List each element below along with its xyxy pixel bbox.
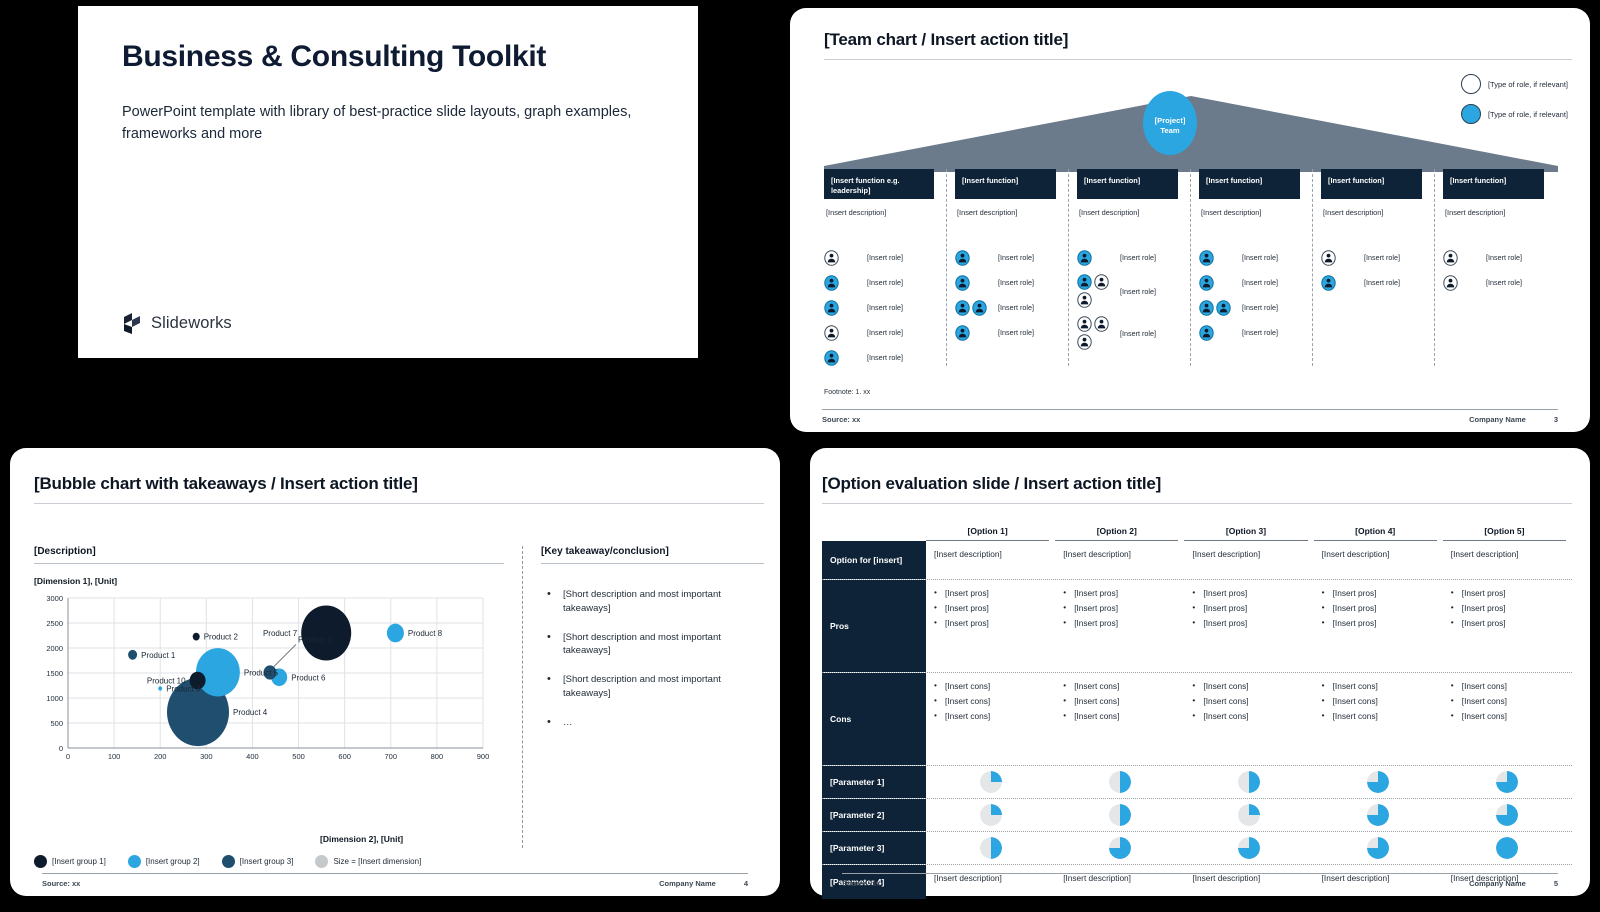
bullet-item: [Insert pros] <box>1192 603 1307 614</box>
option-header-2[interactable]: [Option 2] <box>1055 526 1178 541</box>
role-list: [Insert role] [Insert role] [Insert ro <box>955 249 1064 341</box>
person-icon <box>972 300 987 316</box>
x-tick-label: 600 <box>338 752 351 761</box>
slide2-header: [Team chart / Insert action title] <box>824 30 1572 60</box>
bubble-product-8[interactable] <box>387 624 404 643</box>
bullet-item: [Insert pros] <box>1451 588 1566 599</box>
slide3-header: [Bubble chart with takeaways / Insert ac… <box>34 474 764 504</box>
pie-indicator-icon <box>980 804 1002 826</box>
person-icon <box>1094 316 1109 332</box>
person-icon <box>824 300 839 316</box>
person-icon <box>955 250 970 266</box>
role-icon-group <box>1321 275 1359 291</box>
table-row: [Parameter 3] <box>822 832 1572 864</box>
role-legend-label: [Type of role, if relevant] <box>1488 80 1568 89</box>
row-label[interactable]: [Parameter 3] <box>822 832 926 864</box>
role-label: [Insert role] <box>1242 303 1278 312</box>
bullet-item: [Insert cons] <box>934 681 1049 692</box>
role-label: [Insert role] <box>867 253 903 262</box>
slide3-footer: Source: xx Company Name 4 <box>10 873 780 888</box>
takeaway-item-3: [Short description and most important ta… <box>541 673 751 701</box>
role-row[interactable]: [Insert role] <box>1443 274 1552 291</box>
bubble-product-3[interactable] <box>158 686 162 690</box>
x-tick-label: 500 <box>292 752 305 761</box>
role-row[interactable]: [Insert role] <box>824 274 942 291</box>
role-row[interactable]: [Insert role] <box>955 324 1064 341</box>
y-tick-label: 3000 <box>46 594 63 603</box>
pie-indicator-icon <box>1238 771 1260 793</box>
function-header[interactable]: [Insert function] <box>1077 169 1178 199</box>
role-row[interactable]: [Insert role] <box>955 249 1064 266</box>
role-label: [Insert role] <box>998 328 1034 337</box>
bullet-item: [Insert cons] <box>1192 711 1307 722</box>
role-icon-group <box>824 275 862 291</box>
role-list: [Insert role] [Insert role] [Insert role… <box>824 249 942 366</box>
bullet-item: [Insert cons] <box>1322 696 1437 707</box>
bullet-item: [Insert cons] <box>1063 696 1178 707</box>
bubble-label-product-4: Product 4 <box>233 708 268 717</box>
project-team-label-line2: Team <box>1160 126 1179 136</box>
takeaway-panel: [Key takeaway/conclusion] [Short descrip… <box>541 546 764 848</box>
person-icon <box>955 300 970 316</box>
role-icon-group <box>955 325 993 341</box>
function-description: [Insert description] <box>1445 208 1552 217</box>
bubble-chart-svg: 0500100015002000250030000100200300400500… <box>34 592 489 774</box>
table-cell[interactable]: [Insert cons][Insert cons][Insert cons] <box>1443 673 1572 765</box>
title-card: Business & Consulting Toolkit PowerPoint… <box>78 6 698 358</box>
role-icon-group <box>824 350 862 366</box>
slide-3-team-chart: [Team chart / Insert action title] [Type… <box>790 0 1600 440</box>
bullet-item: [Insert pros] <box>934 588 1049 599</box>
y-tick-label: 2500 <box>46 619 63 628</box>
person-icon <box>1199 325 1214 341</box>
pie-indicator-icon <box>1367 837 1389 859</box>
bubble-chart-body: [Description] [Dimension 1], [Unit] 0500… <box>34 546 764 848</box>
title-divider <box>824 59 1572 60</box>
row-label[interactable]: Pros <box>822 580 926 672</box>
table-cell-rating[interactable] <box>1055 766 1184 798</box>
function-columns: [Insert function e.g. leadership] [Inser… <box>824 169 1556 366</box>
page-title: [Option evaluation slide / Insert action… <box>822 474 1572 494</box>
table-cell[interactable]: [Insert pros][Insert pros][Insert pros] <box>1055 580 1184 672</box>
function-header[interactable]: [Insert function] <box>1199 169 1300 199</box>
role-label: [Insert role] <box>1242 253 1278 262</box>
x-tick-label: 100 <box>108 752 121 761</box>
bubble-label-product-6: Product 6 <box>291 673 326 682</box>
person-icon <box>824 325 839 341</box>
y-axis-label: [Dimension 1], [Unit] <box>34 576 504 586</box>
role-row[interactable]: [Insert role] <box>1199 324 1308 341</box>
pie-indicator-icon <box>980 771 1002 793</box>
footer-company: Company Name <box>1469 415 1526 424</box>
role-list: [Insert role] [Insert role] <box>1077 249 1186 350</box>
slide-5-option-evaluation: [Option evaluation slide / Insert action… <box>790 440 1600 912</box>
person-icon <box>1077 292 1092 308</box>
takeaway-item-1: [Short description and most important ta… <box>541 588 751 616</box>
person-icon <box>1199 300 1214 316</box>
function-header[interactable]: [Insert function] <box>955 169 1056 199</box>
role-icon-group <box>1077 274 1115 308</box>
footnote: Footnote: 1. xx <box>824 389 870 396</box>
vertical-divider <box>522 546 523 848</box>
legend-color-swatch-icon <box>128 855 141 868</box>
legend-label: [Insert group 2] <box>146 857 200 866</box>
footer-page-number: 3 <box>1554 415 1558 424</box>
person-icon <box>1077 250 1092 266</box>
y-tick-label: 1000 <box>46 694 63 703</box>
role-label: [Insert role] <box>1364 278 1400 287</box>
role-label: [Insert role] <box>867 303 903 312</box>
role-label: [Insert role] <box>867 353 903 362</box>
person-icon <box>824 350 839 366</box>
bubble-label-product-2: Product 2 <box>204 633 239 642</box>
table-row: Option for [insert][Insert description][… <box>822 541 1572 579</box>
bullet-item: [Insert cons] <box>1063 681 1178 692</box>
role-row[interactable]: [Insert role] <box>955 299 1064 316</box>
legend-item-3[interactable]: [Insert group 3] <box>222 855 294 868</box>
role-row[interactable]: [Insert role] <box>1321 274 1430 291</box>
bullet-item: [Insert pros] <box>934 618 1049 629</box>
bubble-product-1[interactable] <box>128 650 137 660</box>
row-label[interactable]: [Parameter 1] <box>822 766 926 798</box>
slide4-header: [Option evaluation slide / Insert action… <box>822 474 1572 504</box>
bullet-item: [Insert pros] <box>934 603 1049 614</box>
page-title: Business & Consulting Toolkit <box>122 40 654 75</box>
takeaway-item-4: … <box>541 716 751 730</box>
bullet-item: [Insert pros] <box>1322 588 1437 599</box>
person-icon <box>955 275 970 291</box>
table-row: Cons[Insert cons][Insert cons][Insert co… <box>822 673 1572 765</box>
table-cell-rating[interactable] <box>926 799 1055 831</box>
bullet-item: [Insert cons] <box>934 696 1049 707</box>
table-cell-rating[interactable] <box>1314 832 1443 864</box>
person-icon <box>1216 300 1231 316</box>
source-label: Source: xx <box>822 415 860 424</box>
table-cell[interactable]: [Insert cons][Insert cons][Insert cons] <box>1055 673 1184 765</box>
legend-color-swatch-icon <box>222 855 235 868</box>
role-label: [Insert role] <box>1364 253 1400 262</box>
bullet-item: [Insert cons] <box>934 711 1049 722</box>
role-label: [Insert role] <box>998 303 1034 312</box>
legend-item-1[interactable]: [Insert group 1] <box>34 855 106 868</box>
corner-cell <box>822 526 926 541</box>
role-icon-group <box>955 300 993 316</box>
person-icon <box>824 250 839 266</box>
bullet-item: [Insert pros] <box>1322 603 1437 614</box>
table-cell[interactable]: [Insert description] <box>1443 541 1572 579</box>
function-column-1: [Insert function e.g. leadership] [Inser… <box>824 169 946 366</box>
role-label: [Insert role] <box>1120 287 1156 296</box>
table-cell-rating[interactable] <box>1184 766 1313 798</box>
role-label: [Insert role] <box>1486 278 1522 287</box>
bubble-label-product-8: Product 8 <box>408 629 443 638</box>
role-icon-group <box>1077 250 1115 266</box>
table-cell-rating[interactable] <box>1314 766 1443 798</box>
function-column-6: [Insert function] [Insert description] [… <box>1434 169 1556 366</box>
role-icon-group <box>1443 275 1481 291</box>
y-tick-label: 500 <box>50 719 63 728</box>
footer-divider <box>842 873 1558 874</box>
role-row[interactable]: [Insert role] <box>1199 274 1308 291</box>
pie-indicator-icon <box>1109 837 1131 859</box>
bullet-item: [Insert pros] <box>1063 618 1178 629</box>
function-column-5: [Insert function] [Insert description] [… <box>1312 169 1434 366</box>
y-tick-label: 2000 <box>46 644 63 653</box>
function-description: [Insert description] <box>957 208 1064 217</box>
person-icon <box>1199 250 1214 266</box>
bullet-item: [Insert pros] <box>1063 603 1178 614</box>
y-tick-label: 1500 <box>46 669 63 678</box>
bullet-item: [Insert cons] <box>1451 696 1566 707</box>
slide2-footer: Source: xx Company Name 3 <box>790 409 1590 424</box>
role-icon-group <box>1321 250 1359 266</box>
table-cell[interactable]: [Insert description] <box>1184 541 1313 579</box>
role-icon-group <box>955 275 993 291</box>
role-label: [Insert role] <box>1486 253 1522 262</box>
table-cell-rating[interactable] <box>1184 799 1313 831</box>
footer-page-number: 4 <box>744 879 748 888</box>
footer-divider <box>822 409 1558 410</box>
legend-label: [Insert group 1] <box>52 857 106 866</box>
role-icon-group <box>824 300 862 316</box>
x-tick-label: 200 <box>154 752 167 761</box>
function-column-2: [Insert function] [Insert description] [… <box>946 169 1068 366</box>
option-header-4[interactable]: [Option 4] <box>1314 526 1437 541</box>
x-tick-label: 400 <box>246 752 259 761</box>
option-header-5[interactable]: [Option 5] <box>1443 526 1566 541</box>
role-icon-group <box>1199 300 1237 316</box>
bullet-item: [Insert cons] <box>1322 711 1437 722</box>
role-row[interactable]: [Insert role] <box>1443 249 1552 266</box>
person-icon <box>1077 274 1092 290</box>
brand-name: Slideworks <box>151 314 232 333</box>
role-label: [Insert role] <box>867 328 903 337</box>
role-row[interactable]: [Insert role] <box>1199 299 1308 316</box>
person-icon <box>1077 334 1092 350</box>
bullet-item: [Insert pros] <box>1322 618 1437 629</box>
table-cell-rating[interactable] <box>926 766 1055 798</box>
person-icon <box>955 325 970 341</box>
pie-indicator-icon <box>1496 771 1518 793</box>
person-icon <box>1443 250 1458 266</box>
role-row[interactable]: [Insert role] <box>824 249 942 266</box>
person-icon <box>1321 250 1336 266</box>
bubble-label-product-5: Product 5 <box>244 668 279 677</box>
row-label[interactable]: Option for [insert] <box>822 541 926 579</box>
row-label[interactable]: Cons <box>822 673 926 765</box>
role-label: [Insert role] <box>867 278 903 287</box>
bullet-item: [Insert pros] <box>1451 603 1566 614</box>
role-label: [Insert role] <box>1242 328 1278 337</box>
function-description: [Insert description] <box>1079 208 1186 217</box>
bubble-label-product-9: Product 9 <box>298 636 333 645</box>
role-row[interactable]: [Insert role] <box>1077 316 1186 350</box>
role-icon-group <box>1199 250 1237 266</box>
table-cell[interactable]: [Insert pros][Insert pros][Insert pros] <box>1184 580 1313 672</box>
bullet-item: [Insert cons] <box>1451 711 1566 722</box>
role-list: [Insert role] [Insert role] <box>1443 249 1552 291</box>
person-icon <box>1321 275 1336 291</box>
footer-company: Company Name <box>1469 879 1526 888</box>
function-description: [Insert description] <box>1323 208 1430 217</box>
takeaway-panel-header: [Key takeaway/conclusion] <box>541 546 764 557</box>
bubble-label-product-10: Product 10 <box>147 677 186 686</box>
person-icon <box>1077 316 1092 332</box>
project-team-label-line1: [Project] <box>1155 116 1186 126</box>
table-cell-rating[interactable] <box>1443 766 1572 798</box>
table-cell[interactable]: [Insert cons][Insert cons][Insert cons] <box>1314 673 1443 765</box>
role-label: [Insert role] <box>1242 278 1278 287</box>
page-title: [Team chart / Insert action title] <box>824 30 1572 50</box>
legend-label: Size = [Insert dimension] <box>333 857 421 866</box>
role-row[interactable]: [Insert role] <box>1077 249 1186 266</box>
title-divider <box>34 503 764 504</box>
function-description: [Insert description] <box>1201 208 1308 217</box>
bullet-item: [Insert cons] <box>1192 681 1307 692</box>
role-icon-group <box>824 250 862 266</box>
x-tick-label: 700 <box>385 752 398 761</box>
table-cell[interactable]: [Insert description] <box>926 541 1055 579</box>
slide-1-title: Business & Consulting Toolkit PowerPoint… <box>0 0 790 440</box>
x-axis-label: [Dimension 2], [Unit] <box>320 834 403 844</box>
table-cell[interactable]: [Insert pros][Insert pros][Insert pros] <box>1443 580 1572 672</box>
function-header[interactable]: [Insert function e.g. leadership] <box>824 169 934 199</box>
pie-indicator-icon <box>1238 804 1260 826</box>
pie-indicator-icon <box>1496 837 1518 859</box>
role-row[interactable]: [Insert role] <box>1321 249 1430 266</box>
table-header-row: [Option 1][Option 2][Option 3][Option 4]… <box>822 526 1572 541</box>
table-cell-rating[interactable] <box>1184 832 1313 864</box>
role-row[interactable]: [Insert role] <box>824 324 942 341</box>
pie-indicator-icon <box>1109 771 1131 793</box>
bubble-product-5[interactable] <box>196 648 240 696</box>
table-cell[interactable]: [Insert description] <box>1314 541 1443 579</box>
person-icon <box>824 275 839 291</box>
table-row: Pros[Insert pros][Insert pros][Insert pr… <box>822 580 1572 672</box>
takeaway-list: [Short description and most important ta… <box>541 588 764 729</box>
function-description: [Insert description] <box>826 208 942 217</box>
page-title: [Bubble chart with takeaways / Insert ac… <box>34 474 764 494</box>
table-cell[interactable]: [Insert description] <box>1055 541 1184 579</box>
role-label: [Insert role] <box>998 278 1034 287</box>
slideworks-logo-icon <box>122 313 142 334</box>
table-cell[interactable]: [Insert pros][Insert pros][Insert pros] <box>926 580 1055 672</box>
role-row[interactable]: [Insert role] <box>1199 249 1308 266</box>
panel-divider <box>34 563 504 564</box>
bubble-label-product-7: Product 7 <box>263 629 298 638</box>
option-header-3[interactable]: [Option 3] <box>1184 526 1307 541</box>
pie-indicator-icon <box>1496 804 1518 826</box>
role-row[interactable]: [Insert role] <box>955 274 1064 291</box>
person-icon <box>1199 275 1214 291</box>
bullet-item: [Insert cons] <box>1322 681 1437 692</box>
brand-logo: Slideworks <box>122 313 232 334</box>
legend-item-4[interactable]: Size = [Insert dimension] <box>315 855 421 868</box>
legend-color-swatch-icon <box>34 855 47 868</box>
role-icon-group <box>824 325 862 341</box>
takeaway-item-2: [Short description and most important ta… <box>541 631 751 659</box>
title-divider <box>822 503 1572 504</box>
legend-item-2[interactable]: [Insert group 2] <box>128 855 200 868</box>
page-subtitle: PowerPoint template with library of best… <box>122 101 632 146</box>
slide4-footer: Source: xx Company Name 5 <box>810 873 1590 888</box>
table-cell-rating[interactable] <box>1443 832 1572 864</box>
footer-divider <box>42 873 748 874</box>
role-legend-item-1: [Type of role, if relevant] <box>1461 74 1568 94</box>
table-row: [Parameter 1] <box>822 766 1572 798</box>
bubble-label-product-3: Product 3 <box>166 685 201 694</box>
bullet-item: [Insert cons] <box>1063 711 1178 722</box>
x-tick-label: 300 <box>200 752 213 761</box>
bullet-item: [Insert cons] <box>1192 696 1307 707</box>
bullet-item: [Insert pros] <box>1063 588 1178 599</box>
legend-label: [Insert group 3] <box>240 857 294 866</box>
function-header[interactable]: [Insert function] <box>1321 169 1422 199</box>
bubble-product-7[interactable] <box>301 606 351 661</box>
role-label: [Insert role] <box>1120 253 1156 262</box>
source-label: Source: xx <box>842 879 880 888</box>
row-label[interactable]: [Parameter 2] <box>822 799 926 831</box>
pie-indicator-icon <box>1109 804 1131 826</box>
role-label: [Insert role] <box>998 253 1034 262</box>
legend-color-swatch-icon <box>315 855 328 868</box>
function-column-4: [Insert function] [Insert description] [… <box>1190 169 1312 366</box>
role-legend-circle-icon <box>1461 74 1481 94</box>
role-icon-group <box>955 250 993 266</box>
role-icon-group <box>1199 325 1237 341</box>
function-column-3: [Insert function] [Insert description] [… <box>1068 169 1190 366</box>
table-cell[interactable]: [Insert cons][Insert cons][Insert cons] <box>1184 673 1313 765</box>
role-row[interactable]: [Insert role] <box>824 299 942 316</box>
bullet-item: [Insert pros] <box>1192 588 1307 599</box>
pie-indicator-icon <box>1367 804 1389 826</box>
table-cell-rating[interactable] <box>1314 799 1443 831</box>
pie-indicator-icon <box>1367 771 1389 793</box>
source-label: Source: xx <box>42 879 80 888</box>
footer-page-number: 5 <box>1554 879 1558 888</box>
footer-company: Company Name <box>659 879 716 888</box>
table-cell-rating[interactable] <box>1443 799 1572 831</box>
table-cell-rating[interactable] <box>1055 799 1184 831</box>
table-cell-rating[interactable] <box>926 832 1055 864</box>
bubble-label-product-1: Product 1 <box>141 651 176 660</box>
bullet-item: [Insert pros] <box>1451 618 1566 629</box>
bubble-plot: 0500100015002000250030000100200300400500… <box>34 592 489 774</box>
role-icon-group <box>1077 316 1115 350</box>
bullet-item: [Insert pros] <box>1192 618 1307 629</box>
pie-indicator-icon <box>980 837 1002 859</box>
slide-4-bubble-chart: [Bubble chart with takeaways / Insert ac… <box>0 440 790 912</box>
table-cell[interactable]: [Insert pros][Insert pros][Insert pros] <box>1314 580 1443 672</box>
table-cell-rating[interactable] <box>1055 832 1184 864</box>
option-header-1[interactable]: [Option 1] <box>926 526 1049 541</box>
role-icon-group <box>1443 250 1481 266</box>
description-panel-header: [Description] <box>34 546 504 557</box>
org-roof-graphic <box>824 92 1600 177</box>
x-tick-label: 900 <box>477 752 489 761</box>
table-cell[interactable]: [Insert cons][Insert cons][Insert cons] <box>926 673 1055 765</box>
bubble-product-2[interactable] <box>193 633 200 641</box>
bullet-item: [Insert cons] <box>1451 681 1566 692</box>
role-row[interactable]: [Insert role] <box>824 349 942 366</box>
x-tick-label: 0 <box>66 752 70 761</box>
function-header[interactable]: [Insert function] <box>1443 169 1544 199</box>
panel-divider <box>541 563 764 564</box>
person-icon <box>1094 274 1109 290</box>
slide-deck-grid: Business & Consulting Toolkit PowerPoint… <box>0 0 1600 912</box>
role-row[interactable]: [Insert role] <box>1077 274 1186 308</box>
chart-legend: [Insert group 1] [Insert group 2] [Inser… <box>34 855 504 868</box>
